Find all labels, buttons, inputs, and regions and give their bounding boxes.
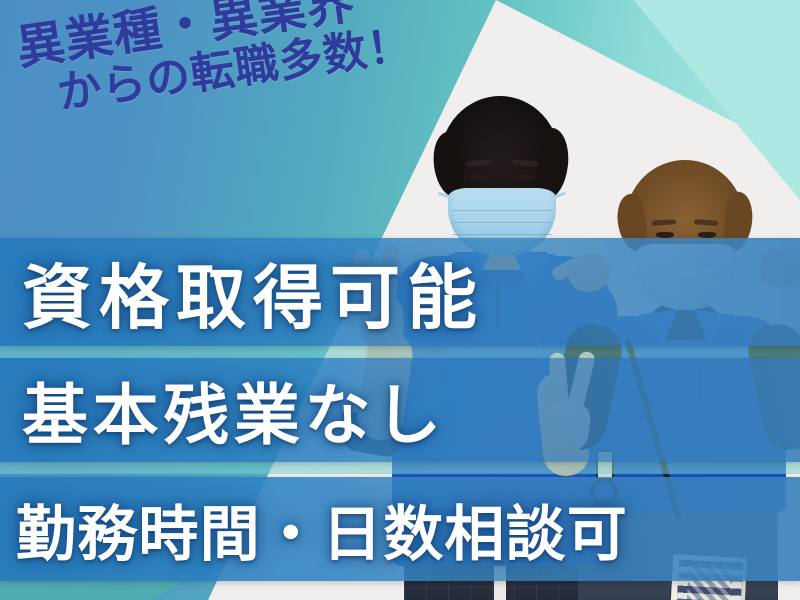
banner-separator-2 [0,462,800,474]
banner-qualification: 資格取得可能 [0,238,800,346]
banner-schedule-text: 勤務時間・日数相談可 [0,486,628,573]
recruitment-poster: 異業種・異業界 からの転職多数！ [0,0,800,600]
banner-qualification-text: 資格取得可能 [0,242,484,343]
male-eye-left [470,174,490,180]
banner-overtime-text: 基本残業なし [0,362,446,458]
male-eye-right [514,174,534,180]
banner-separator-1 [0,346,800,358]
banner-overtime: 基本残業なし [0,358,800,462]
banner-schedule: 勤務時間・日数相談可 [0,477,800,581]
